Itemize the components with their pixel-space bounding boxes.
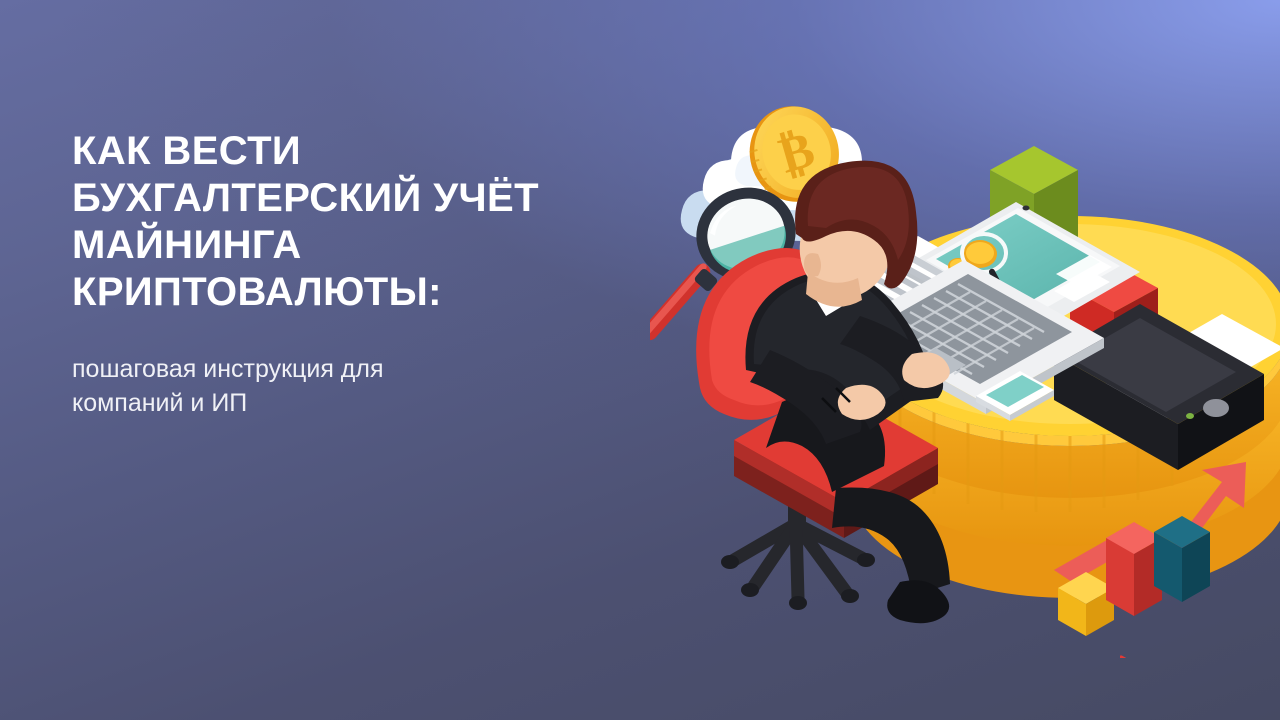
page-title: КАК ВЕСТИ БУХГАЛТЕРСКИЙ УЧЁТ МАЙНИНГА КР… [72, 128, 672, 316]
text-block: КАК ВЕСТИ БУХГАЛТЕРСКИЙ УЧЁТ МАЙНИНГА КР… [72, 128, 672, 420]
illustration: ₿ [650, 58, 1280, 658]
banner-root: КАК ВЕСТИ БУХГАЛТЕРСКИЙ УЧЁТ МАЙНИНГА КР… [0, 0, 1280, 720]
page-subtitle: пошаговая инструкция для компаний и ИП [72, 316, 672, 420]
